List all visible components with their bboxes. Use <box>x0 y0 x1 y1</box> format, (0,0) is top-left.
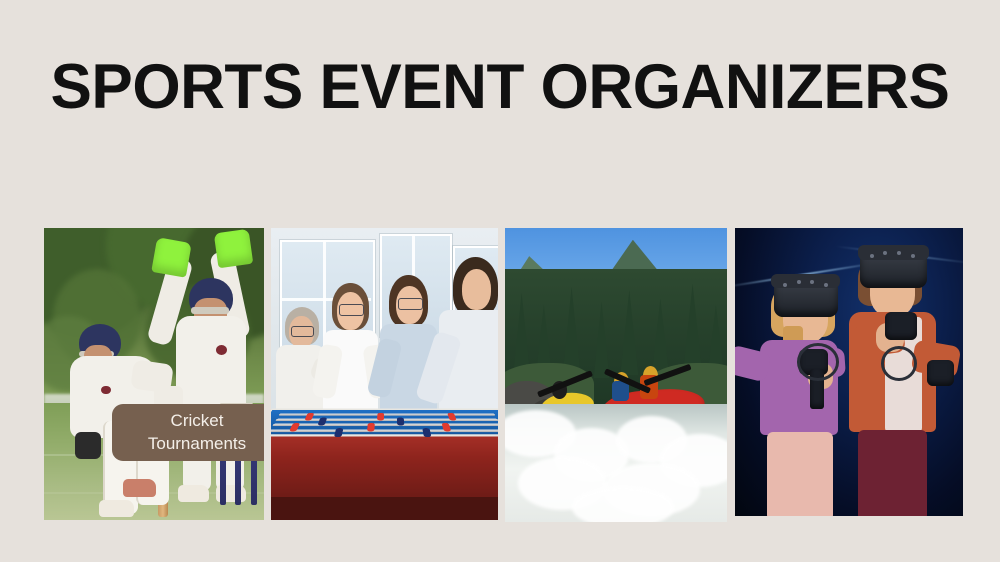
category-label-cricket[interactable]: Cricket Tournaments <box>112 404 264 461</box>
label-line-2: Tournaments <box>148 433 246 455</box>
slide-canvas: SPORTS EVENT ORGANIZERS <box>0 0 1000 562</box>
category-image-cricket: Cricket Tournaments <box>44 228 264 520</box>
category-image-indoor-office: Indoor Office Competitions <box>271 228 498 520</box>
indoor-office-photo <box>271 228 498 520</box>
page-title: SPORTS EVENT ORGANIZERS <box>8 56 993 119</box>
category-image-adventure-outdoor: Adventure & Outdoor Sports <box>505 228 727 522</box>
label-line-1: Cricket <box>148 410 246 432</box>
cricket-photo <box>44 228 264 520</box>
rafting-photo <box>505 228 727 522</box>
category-image-esports-virtual: E-Sports & Virtual Gaming <box>735 228 963 516</box>
vr-photo <box>735 228 963 516</box>
